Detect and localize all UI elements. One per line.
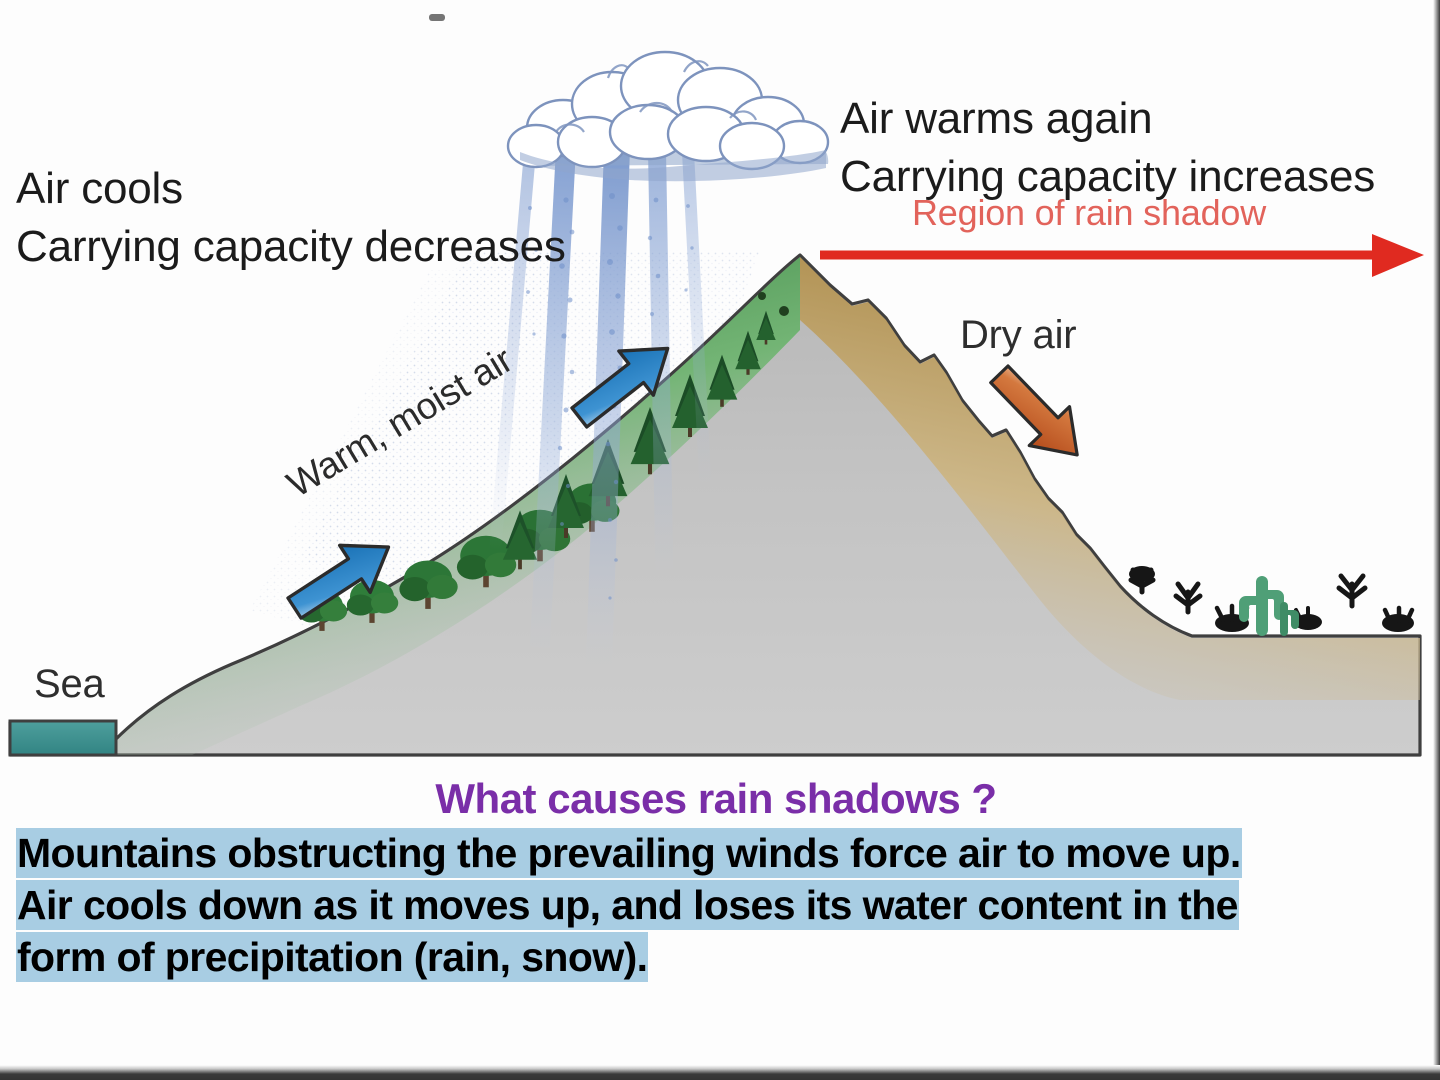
caption-answer: Mountains obstructing the prevailing win… bbox=[16, 827, 1426, 983]
red-arrow-right-icon bbox=[820, 234, 1424, 277]
slide-bottom-border bbox=[0, 1065, 1440, 1080]
label-air-cools-line2: Carrying capacity decreases bbox=[16, 218, 566, 276]
stray-mark bbox=[429, 14, 445, 21]
mountain-landform bbox=[10, 255, 1420, 772]
slide-right-border bbox=[1433, 0, 1440, 1080]
label-air-warms-again: Air warms again Carrying capacity increa… bbox=[840, 90, 1375, 206]
cactus-icon-small bbox=[1280, 602, 1299, 636]
answer-line-3: form of precipitation (rain, snow). bbox=[16, 931, 1426, 983]
answer-line-1: Mountains obstructing the prevailing win… bbox=[16, 827, 1426, 879]
caption-question: What causes rain shadows ? bbox=[0, 775, 1432, 823]
label-region-of-rain-shadow: Region of rain shadow bbox=[912, 192, 1266, 234]
slide-canvas: Air cools Carrying capacity decreases Ai… bbox=[0, 0, 1440, 1080]
label-sea: Sea bbox=[34, 662, 105, 707]
sea-body bbox=[10, 721, 116, 755]
label-air-cools: Air cools Carrying capacity decreases bbox=[16, 160, 566, 276]
label-air-warms-line1: Air warms again bbox=[840, 90, 1375, 148]
label-dry-air: Dry air bbox=[960, 313, 1076, 358]
label-air-cools-line1: Air cools bbox=[16, 160, 566, 218]
answer-line-2: Air cools down as it moves up, and loses… bbox=[16, 879, 1426, 931]
